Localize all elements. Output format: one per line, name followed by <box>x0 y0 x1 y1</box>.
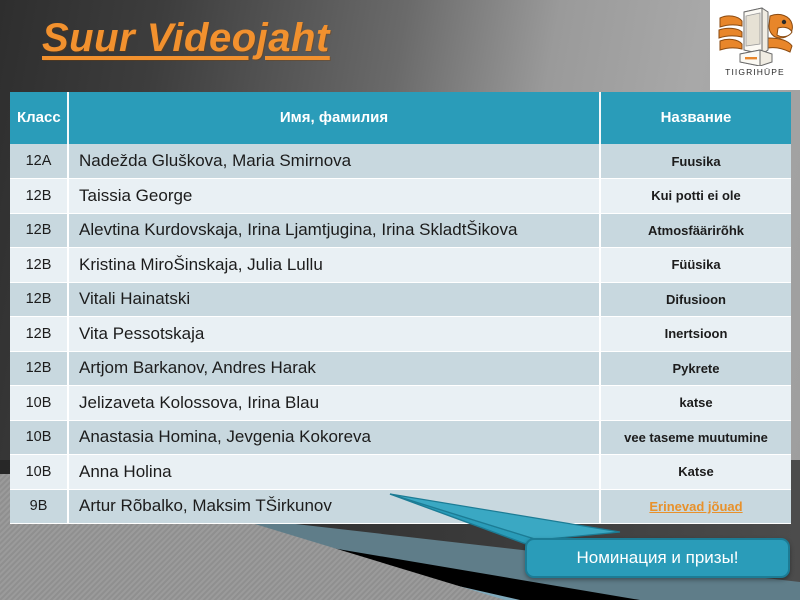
cell-name: Kristina MiroŠinskaja, Julia Lullu <box>68 248 600 283</box>
cell-name: Jelizaveta Kolossova, Irina Blau <box>68 386 600 421</box>
cell-name: Nadežda Gluškova, Maria Smirnova <box>68 144 600 179</box>
callout-label: Номинация и призы! <box>576 548 738 568</box>
cell-title: Atmosfäärirõhk <box>600 213 791 248</box>
cell-title: Füüsika <box>600 248 791 283</box>
cell-title: Difusioon <box>600 282 791 317</box>
column-header-title: Название <box>600 92 791 144</box>
results-table-wrapper: Класс Имя, фамилия Название 12ANadežda G… <box>10 92 791 524</box>
table-row: 12ANadežda Gluškova, Maria SmirnovaFuusi… <box>10 144 791 179</box>
column-header-name: Имя, фамилия <box>68 92 600 144</box>
cell-class: 12B <box>10 213 68 248</box>
table-row: 12BAlevtina Kurdovskaja, Irina Ljamtjugi… <box>10 213 791 248</box>
logo-text: TIIGRIHÜPE <box>725 67 785 77</box>
cell-class: 12A <box>10 144 68 179</box>
cell-class: 12B <box>10 282 68 317</box>
nomination-callout[interactable]: Номинация и призы! <box>525 538 790 578</box>
cell-class: 10B <box>10 386 68 421</box>
slide-canvas: Suur Videojaht <box>0 0 800 600</box>
page-title: Suur Videojaht <box>42 16 330 61</box>
tiger-computer-icon <box>716 4 794 66</box>
cell-title: Pykrete <box>600 351 791 386</box>
table-header: Класс Имя, фамилия Название <box>10 92 791 144</box>
cell-class: 12B <box>10 317 68 352</box>
cell-class: 12B <box>10 248 68 283</box>
table-row: 10BAnna HolinaKatse <box>10 455 791 490</box>
cell-title: katse <box>600 386 791 421</box>
table-header-row: Класс Имя, фамилия Название <box>10 92 791 144</box>
cell-name: Alevtina Kurdovskaja, Irina Ljamtjugina,… <box>68 213 600 248</box>
cell-class: 9B <box>10 489 68 524</box>
cell-class: 12B <box>10 179 68 214</box>
column-header-class: Класс <box>10 92 68 144</box>
table-row: 10BJelizaveta Kolossova, Irina Blaukatse <box>10 386 791 421</box>
cell-class: 10B <box>10 455 68 490</box>
cell-title: Inertsioon <box>600 317 791 352</box>
cell-name: Anna Holina <box>68 455 600 490</box>
cell-name: Vita Pessotskaja <box>68 317 600 352</box>
cell-title: Katse <box>600 455 791 490</box>
table-row: 12BKristina MiroŠinskaja, Julia LulluFüü… <box>10 248 791 283</box>
table-row: 9BArtur Rõbalko, Maksim TŠirkunovErineva… <box>10 489 791 524</box>
cell-name: Taissia George <box>68 179 600 214</box>
cell-title: Fuusika <box>600 144 791 179</box>
cell-class: 12B <box>10 351 68 386</box>
table-row: 10BAnastasia Homina, Jevgenia Kokorevave… <box>10 420 791 455</box>
cell-title: Kui potti ei ole <box>600 179 791 214</box>
cell-class: 10B <box>10 420 68 455</box>
cell-name: Artjom Barkanov, Andres Harak <box>68 351 600 386</box>
cell-name: Anastasia Homina, Jevgenia Kokoreva <box>68 420 600 455</box>
results-table: Класс Имя, фамилия Название 12ANadežda G… <box>10 92 791 524</box>
cell-name: Vitali Hainatski <box>68 282 600 317</box>
table-row: 12BTaissia GeorgeKui potti ei ole <box>10 179 791 214</box>
table-row: 12BVitali HainatskiDifusioon <box>10 282 791 317</box>
cell-title: vee taseme muutumine <box>600 420 791 455</box>
tiigrihupe-logo: TIIGRIHÜPE <box>710 0 800 90</box>
project-link[interactable]: Erinevad jõuad <box>649 499 742 514</box>
table-body: 12ANadežda Gluškova, Maria SmirnovaFuusi… <box>10 144 791 524</box>
table-row: 12BArtjom Barkanov, Andres HarakPykrete <box>10 351 791 386</box>
cell-name: Artur Rõbalko, Maksim TŠirkunov <box>68 489 600 524</box>
table-row: 12BVita PessotskajaInertsioon <box>10 317 791 352</box>
cell-title: Erinevad jõuad <box>600 489 791 524</box>
